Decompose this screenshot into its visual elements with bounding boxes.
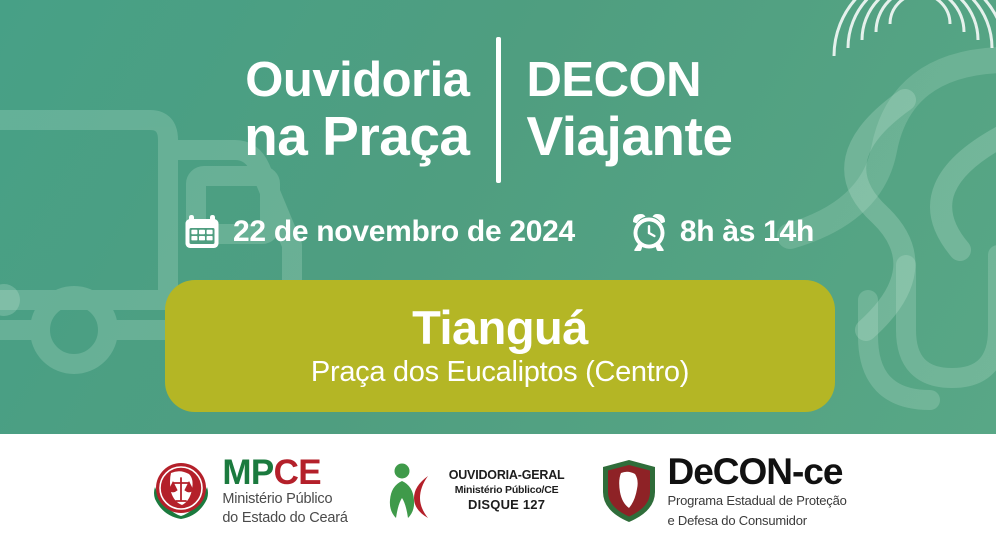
mpce-subtitle-line2: do Estado do Ceará bbox=[222, 509, 347, 527]
red-arc bbox=[414, 476, 428, 518]
hero-section: Ouvidoria na Praça DECON Viajante bbox=[0, 0, 996, 434]
alarm-clock-icon bbox=[629, 212, 669, 252]
headline-left-line2: na Praça bbox=[244, 107, 469, 165]
logo-mpce: MPCE Ministério Público do Estado do Cea… bbox=[149, 455, 347, 526]
corner-dot-decoration bbox=[0, 284, 20, 316]
mpce-text-block: MPCE Ministério Público do Estado do Cea… bbox=[222, 455, 347, 526]
logo-ouvidoria-geral: OUVIDORIA-GERAL Ministério Público/CE DI… bbox=[384, 460, 565, 522]
ouvidoria-text-block: OUVIDORIA-GERAL Ministério Público/CE DI… bbox=[449, 468, 565, 514]
ouvidoria-line1: OUVIDORIA-GERAL bbox=[449, 468, 565, 484]
headline-left: Ouvidoria na Praça bbox=[130, 55, 496, 165]
headline-row: Ouvidoria na Praça DECON Viajante bbox=[0, 34, 996, 186]
headline-right-line1: DECON bbox=[527, 55, 701, 107]
mpce-subtitle-line1: Ministério Público bbox=[222, 490, 347, 508]
event-banner: Ouvidoria na Praça DECON Viajante bbox=[0, 0, 996, 548]
location-city: Tianguá bbox=[412, 304, 588, 352]
mpce-word-ce: CE bbox=[274, 453, 321, 492]
headline-left-line1: Ouvidoria bbox=[245, 55, 469, 107]
footer-logo-band: MPCE Ministério Público do Estado do Cea… bbox=[0, 434, 996, 548]
mpce-wordmark: MPCE bbox=[222, 455, 347, 490]
decon-subtitle-line1: Programa Estadual de Proteção bbox=[667, 493, 846, 510]
event-date: 22 de novembro de 2024 bbox=[182, 212, 575, 252]
decon-subtitle-line2: e Defesa do Consumidor bbox=[667, 513, 846, 530]
mpce-seal-icon bbox=[149, 459, 213, 523]
logo-decon-ce: DeCON-ce Programa Estadual de Proteção e… bbox=[600, 453, 846, 530]
decon-text-block: DeCON-ce Programa Estadual de Proteção e… bbox=[667, 453, 846, 530]
location-panel: Tianguá Praça dos Eucaliptos (Centro) bbox=[165, 280, 835, 412]
headline-right-line2: Viajante bbox=[527, 107, 733, 165]
calendar-icon bbox=[182, 212, 222, 252]
arch-lines-decoration bbox=[868, 255, 996, 400]
event-time-text: 8h às 14h bbox=[680, 215, 814, 249]
headline-right: DECON Viajante bbox=[501, 55, 867, 165]
person-figure bbox=[390, 464, 414, 519]
ouvidoria-figure-icon bbox=[384, 460, 440, 522]
decon-wordmark: DeCON-ce bbox=[667, 453, 846, 490]
location-address: Praça dos Eucaliptos (Centro) bbox=[311, 357, 689, 389]
event-time: 8h às 14h bbox=[629, 212, 814, 252]
mpce-word-mp: MP bbox=[222, 453, 273, 492]
event-meta-row: 22 de novembro de 2024 8h às 14h bbox=[0, 205, 996, 259]
ouvidoria-line3: DISQUE 127 bbox=[468, 497, 545, 514]
ouvidoria-line2: Ministério Público/CE bbox=[455, 484, 559, 497]
event-date-text: 22 de novembro de 2024 bbox=[233, 215, 575, 249]
decon-shield-icon bbox=[600, 458, 658, 524]
